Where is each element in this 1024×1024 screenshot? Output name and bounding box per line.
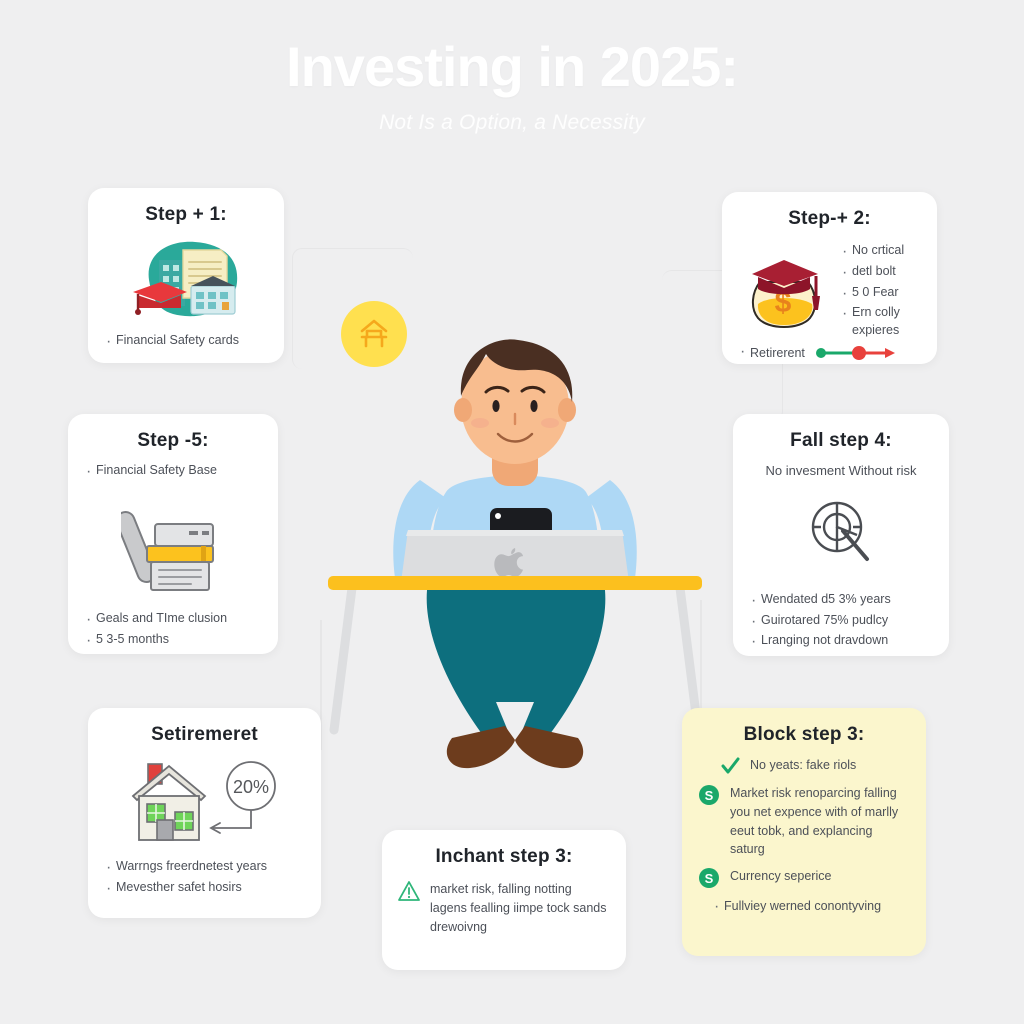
- documents-graduation-cap-illustration: [104, 236, 268, 324]
- card-retirement-bullets: Warrngs freerdnetest years Mevesther saf…: [104, 858, 305, 897]
- card-block-step-3-title: Block step 3:: [698, 724, 910, 746]
- warning-triangle-icon: [398, 880, 420, 902]
- card-step-4-bullets: Wendated d5 3% years Guirotared 75% pudl…: [749, 591, 933, 650]
- person-at-laptop-illustration: [300, 330, 730, 800]
- block-step-3-footer-bullet: Fullviey werned conontyving: [698, 897, 910, 915]
- card-step-1-bullets: Financial Safety cards: [104, 332, 268, 350]
- dollar-circle-icon: S: [698, 867, 720, 889]
- list-item: Lranging not dravdown: [749, 632, 933, 650]
- card-step-1-title: Step + 1:: [104, 204, 268, 226]
- svg-text:S: S: [705, 788, 714, 803]
- card-step-2[interactable]: Step-+ 2: $ No crtical detl bolt 5 0 Fea…: [722, 192, 937, 364]
- list-item-continuation: 5 3-5 months: [84, 631, 262, 649]
- house-percent-illustration: 20%: [104, 756, 305, 848]
- list-item: Mevesther safet hosirs: [104, 879, 305, 897]
- list-item: Warrngs freerdnetest years: [104, 858, 305, 876]
- card-inchant-step-3-title: Inchant step 3:: [398, 846, 610, 868]
- card-retirement[interactable]: Setiremeret 20% Warrngs freerdnetest yea…: [88, 708, 321, 918]
- percent-label: 20%: [232, 777, 268, 797]
- card-block-step-3[interactable]: Block step 3: No yeats: fake riols S Mar…: [682, 708, 926, 956]
- check-icon: [720, 756, 740, 776]
- list-item: Ern colly expieres: [840, 304, 921, 340]
- list-item: detl bolt: [840, 263, 921, 281]
- inchant-step-3-text-1: market risk, falling notting lagens feal…: [430, 880, 610, 936]
- card-inchant-step-3[interactable]: Inchant step 3: market risk, falling not…: [382, 830, 626, 970]
- list-item: 5 0 Fear: [840, 284, 921, 302]
- block-step-3-row-3: S Currency seperice: [698, 867, 910, 889]
- block-step-3-row-1: No yeats: fake riols: [698, 756, 910, 776]
- block-step-3-text-1: No yeats: fake riols: [750, 756, 910, 775]
- card-step-2-bullets: No crtical detl bolt 5 0 Fear Ern colly …: [840, 240, 921, 343]
- card-retirement-title: Setiremeret: [104, 724, 305, 746]
- list-item: Financial Safety Base: [84, 462, 262, 480]
- dollar-circle-icon: S: [698, 784, 720, 806]
- printer-documents-illustration: [84, 498, 262, 594]
- list-item: No crtical: [840, 242, 921, 260]
- card-step-5-title: Step -5:: [84, 430, 262, 452]
- card-step-1[interactable]: Step + 1:: [88, 188, 284, 363]
- money-jar-graduation-cap-illustration: $: [738, 240, 834, 343]
- card-step-2-footer-bullet: · Retirerent: [738, 346, 805, 360]
- card-step-4-subtitle: No invesment Without risk: [749, 462, 933, 481]
- card-step-4-title: Fall step 4:: [749, 430, 933, 452]
- list-item: Geals and TIme clusion: [84, 610, 262, 628]
- block-step-3-text-3: Currency seperice: [730, 867, 910, 886]
- pie-chart-magnifier-icon: [749, 497, 933, 569]
- page-subtitle: Not Is a Option, a Necessity: [0, 111, 1024, 135]
- card-step-2-title: Step-+ 2:: [738, 208, 921, 230]
- infographic-canvas: Investing in 2025: Not Is a Option, a Ne…: [0, 0, 1024, 1024]
- svg-text:S: S: [705, 871, 714, 886]
- list-item: Guirotared 75% pudlcy: [749, 612, 933, 630]
- card-step-5-lead: Financial Safety Base: [84, 462, 262, 480]
- page-header: Investing in 2025: Not Is a Option, a Ne…: [0, 38, 1024, 135]
- list-item: Wendated d5 3% years: [749, 591, 933, 609]
- risk-gradient-arrow-icon: [813, 345, 899, 361]
- page-title: Investing in 2025:: [0, 38, 1024, 97]
- card-step-5-bullets: Geals and TIme clusion 5 3-5 months: [84, 610, 262, 649]
- inchant-step-3-row-1: market risk, falling notting lagens feal…: [398, 880, 610, 936]
- card-step-5[interactable]: Step -5: Financial Safety Base Geals and…: [68, 414, 278, 654]
- block-step-3-row-2: S Market risk renoparcing falling you ne…: [698, 784, 910, 859]
- card-step-4[interactable]: Fall step 4: No invesment Without risk W…: [733, 414, 949, 656]
- block-step-3-text-2: Market risk renoparcing falling you net …: [730, 784, 910, 859]
- list-item: Financial Safety cards: [104, 332, 268, 350]
